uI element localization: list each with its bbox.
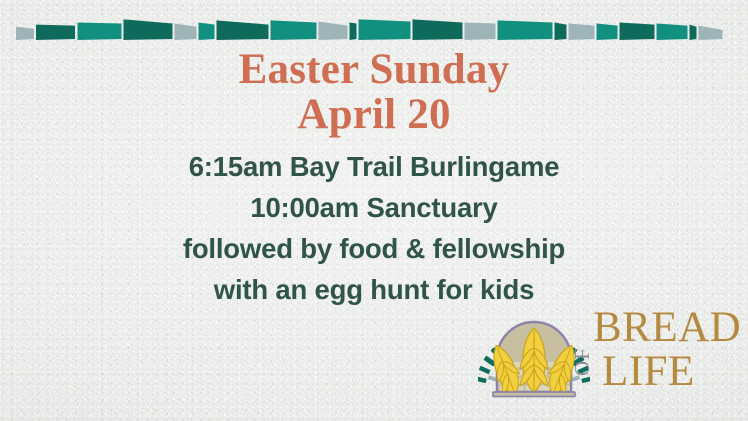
band-segment [555,23,567,41]
band-segment [319,21,348,40]
band-segment [620,23,655,41]
band-segment [690,25,697,40]
mosaic-divider-band [0,0,748,52]
band-segment [359,19,411,40]
band-segment [465,23,496,41]
band-segment [217,20,269,40]
bread-of-life-logo: BREAD LIFE OF [478,303,746,407]
band-segment [16,27,34,40]
logo-wordmark: BREAD LIFE OF [573,301,748,405]
band-segment [413,19,463,40]
detail-line-3: followed by food & fellowship [0,228,748,269]
detail-line-1: 6:15am Bay Trail Burlingame [0,146,748,187]
logo-word-life: LIFE [602,348,695,395]
detail-line-2: 10:00am Sanctuary [0,187,748,228]
headline-line-2: April 20 [0,92,748,137]
band-segment [350,23,357,41]
band-segment [124,19,173,40]
band-segment [657,24,688,40]
logo-word-of: OF [573,347,594,376]
headline-line-1: Easter Sunday [239,46,510,93]
band-segment [78,23,122,41]
band-segment [498,20,553,40]
band-segment [175,24,197,40]
event-details: 6:15am Bay Trail Burlingame 10:00am Sanc… [0,146,748,310]
band-segment [36,25,75,40]
band-segment [199,23,215,41]
band-segment [597,24,618,40]
logo-word-bread: BREAD [593,304,741,351]
page-title: Easter Sunday April 20 [0,47,748,137]
band-segment [699,26,723,40]
band-segment [569,24,595,40]
band-segment [271,20,317,40]
easter-service-poster: Easter Sunday April 20 6:15am Bay Trail … [0,0,748,421]
